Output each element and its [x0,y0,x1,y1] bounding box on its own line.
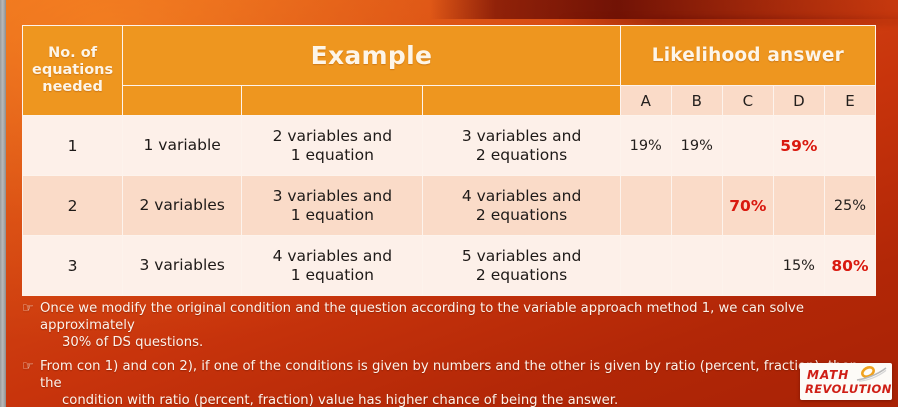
header-row-choices: A B C D E [23,86,876,116]
table-body: 1 1 variable 2 variables and 1 equation … [23,116,876,296]
row2-example-2-line2: 1 equation [242,206,422,225]
header-likelihood-answer: Likelihood answer [620,26,875,86]
header-choice-e: E [824,86,875,116]
logo-text-math: MATH [807,368,849,382]
pointing-hand-icon: ☞ [22,358,40,375]
row1-likelihood-a: 19% [620,116,671,176]
row3-likelihood-d: 15% [773,236,824,296]
note-2-text: From con 1) and con 2), if one of the co… [40,358,878,407]
row2-example-1: 2 variables [123,176,242,236]
notes-section: ☞ Once we modify the original condition … [22,300,878,407]
row1-example-1: 1 variable [123,116,242,176]
row3-example-2-line2: 1 equation [242,266,422,285]
header-no-equations-line1: No. of [23,45,122,62]
math-revolution-logo: MATH REVOLUTION [800,363,892,400]
row3-example-2: 4 variables and 1 equation [242,236,423,296]
left-edge-strip [0,0,6,407]
row1-example-3-line2: 2 equations [423,146,619,165]
row3-likelihood-e: 80% [824,236,875,296]
row2-example-3: 4 variables and 2 equations [423,176,620,236]
row3-likelihood-b [671,236,722,296]
row1-likelihood-e [824,116,875,176]
logo-swoosh-icon [855,366,887,382]
note-item-1: ☞ Once we modify the original condition … [22,300,878,351]
row3-likelihood-c [722,236,773,296]
row2-likelihood-d [773,176,824,236]
row1-example-2-line1: 2 variables and [242,127,422,146]
row3-example-3-line2: 2 equations [423,266,619,285]
row1-example-2-line2: 1 equation [242,146,422,165]
header-choice-d: D [773,86,824,116]
header-choice-b: B [671,86,722,116]
row2-no-equations: 2 [23,176,123,236]
header-choice-a: A [620,86,671,116]
row2-likelihood-a [620,176,671,236]
header-no-equations-line3: needed [23,79,122,96]
header-row-primary: No. of equations needed Example Likeliho… [23,26,876,86]
header-example-spacer-1 [123,86,242,116]
header-no-equations: No. of equations needed [23,26,123,116]
header-no-equations-line2: equations [23,62,122,79]
row3-likelihood-a [620,236,671,296]
header-example: Example [123,26,621,86]
header-example-spacer-3 [423,86,620,116]
row2-example-3-line1: 4 variables and [423,187,619,206]
row1-likelihood-c [722,116,773,176]
note-1-text: Once we modify the original condition an… [40,300,878,351]
row3-example-2-line1: 4 variables and [242,247,422,266]
row2-likelihood-e: 25% [824,176,875,236]
row1-no-equations: 1 [23,116,123,176]
row2-likelihood-c: 70% [722,176,773,236]
table-header: No. of equations needed Example Likeliho… [23,26,876,116]
row2-example-2-line1: 3 variables and [242,187,422,206]
header-choice-c: C [722,86,773,116]
row1-likelihood-d: 59% [773,116,824,176]
logo-inner: MATH REVOLUTION [800,363,892,400]
note-1-line2: 30% of DS questions. [40,334,878,351]
table-row: 1 1 variable 2 variables and 1 equation … [23,116,876,176]
note-1-line1: Once we modify the original condition an… [40,301,804,333]
row3-no-equations: 3 [23,236,123,296]
row2-example-2: 3 variables and 1 equation [242,176,423,236]
row1-example-3: 3 variables and 2 equations [423,116,620,176]
row1-example-3-line1: 3 variables and [423,127,619,146]
header-example-spacer-2 [242,86,423,116]
note-2-line2: condition with ratio (percent, fraction)… [40,392,878,407]
row2-likelihood-b [671,176,722,236]
pointing-hand-icon: ☞ [22,300,40,317]
table-row: 2 2 variables 3 variables and 1 equation… [23,176,876,236]
row3-example-3: 5 variables and 2 equations [423,236,620,296]
table-row: 3 3 variables 4 variables and 1 equation… [23,236,876,296]
logo-text-revolution: REVOLUTION [805,382,892,396]
row3-example-3-line1: 5 variables and [423,247,619,266]
slide-canvas: No. of equations needed Example Likeliho… [0,0,898,407]
note-2-line1: From con 1) and con 2), if one of the co… [40,359,858,391]
likelihood-table-container: No. of equations needed Example Likeliho… [22,25,876,295]
note-item-2: ☞ From con 1) and con 2), if one of the … [22,358,878,407]
row2-example-3-line2: 2 equations [423,206,619,225]
row1-likelihood-b: 19% [671,116,722,176]
row1-example-2: 2 variables and 1 equation [242,116,423,176]
top-shadow-band [430,0,898,19]
row3-example-1: 3 variables [123,236,242,296]
likelihood-table: No. of equations needed Example Likeliho… [22,25,876,296]
